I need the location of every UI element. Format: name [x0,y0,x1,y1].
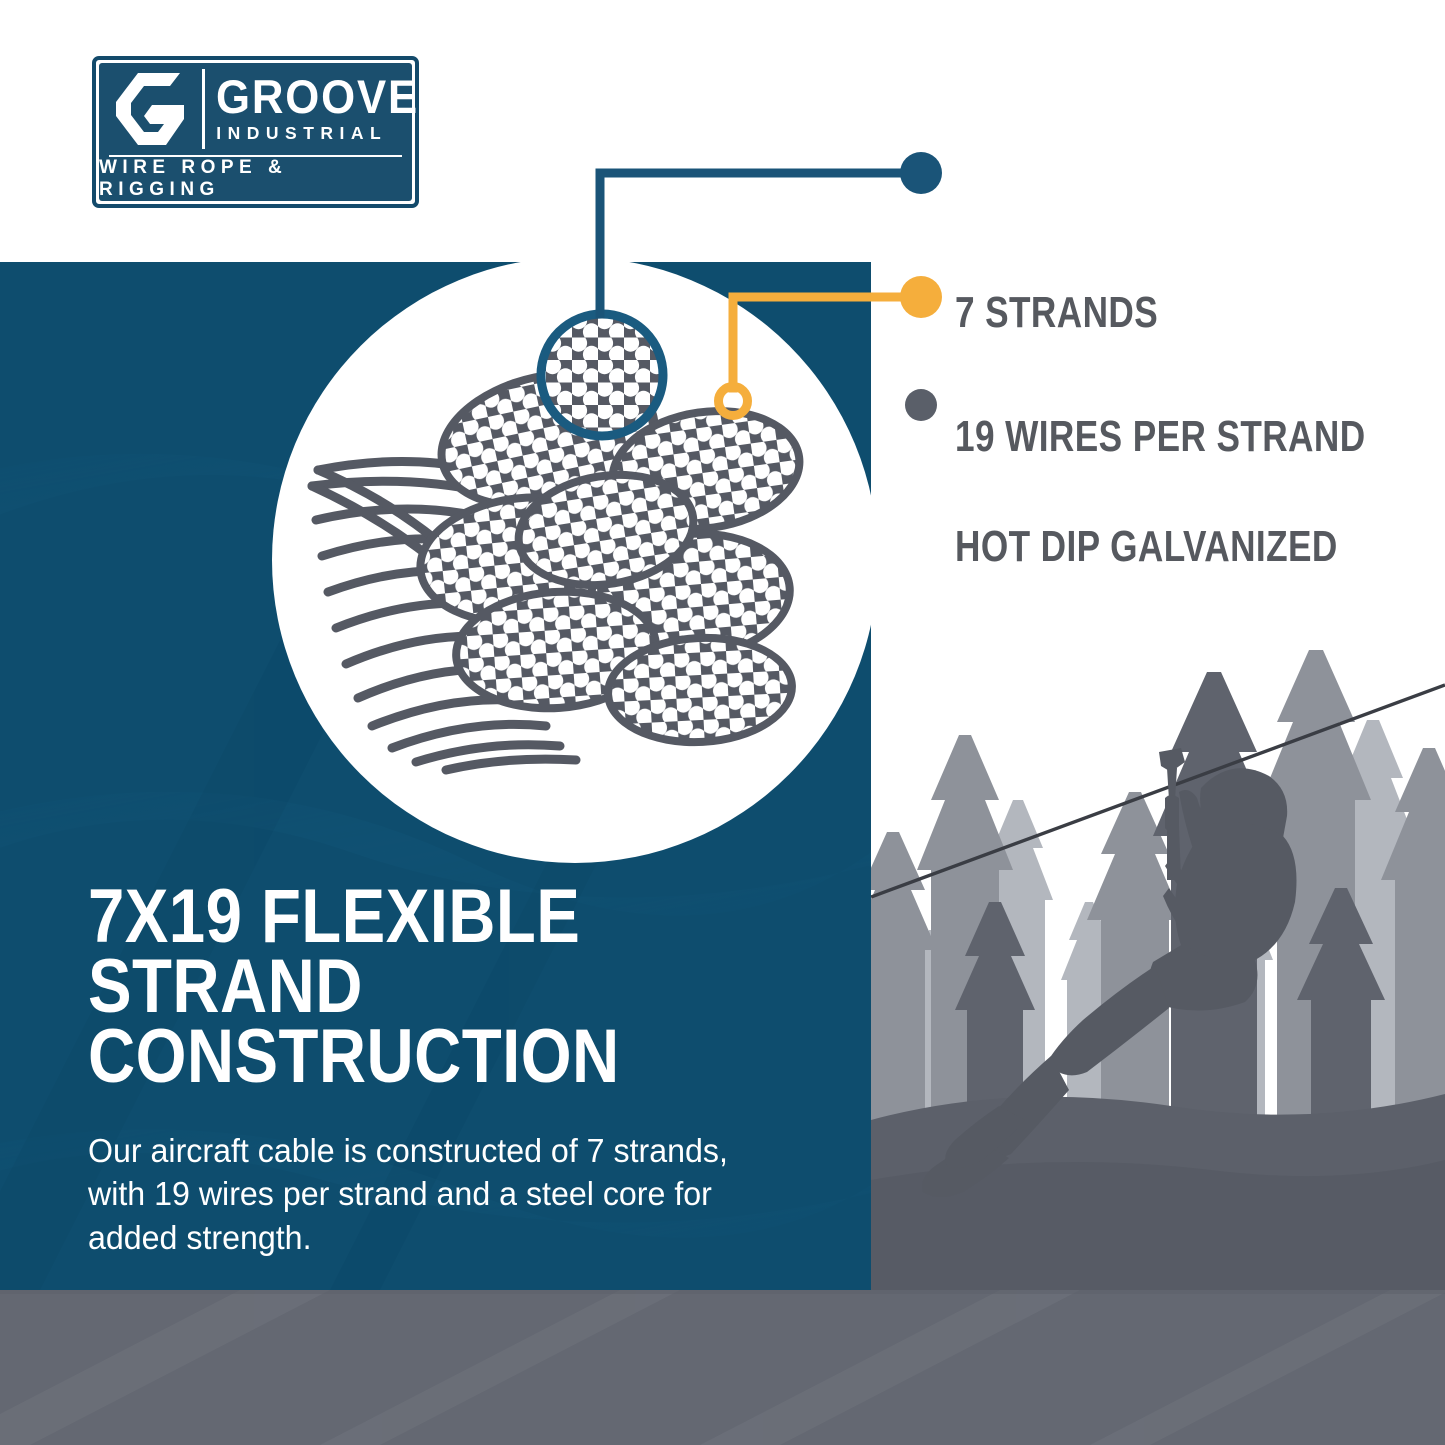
bottom-bar-texture [0,1290,1445,1445]
logo-top-row: GROOVE INDUSTRIAL [99,63,412,155]
headline-block: 7X19 FLEXIBLE STRAND CONSTRUCTION Our ai… [88,882,848,1294]
zipline-scene-illustration [871,0,1445,1290]
callout-item-wires[interactable]: 19 WIRES PER STRAND [955,412,1445,462]
brand-logo[interactable]: GROOVE INDUSTRIAL WIRE ROPE & RIGGING [92,56,419,208]
callout-item-strands[interactable]: 7 STRANDS [955,288,1209,338]
callout-label-galvanized: HOT DIP GALVANIZED [955,522,1338,572]
headline-line-1: 7X19 FLEXIBLE [88,882,742,952]
logo-vertical-divider [202,69,205,149]
body-paragraph: Our aircraft cable is constructed of 7 s… [88,1130,760,1261]
logo-tagline: WIRE ROPE & RIGGING [99,157,412,201]
bottom-bar [0,1290,1445,1445]
page-title: 7X19 FLEXIBLE STRAND CONSTRUCTION [88,882,742,1092]
infographic-canvas: GROOVE INDUSTRIAL WIRE ROPE & RIGGING [0,0,1445,1445]
groove-g-icon [114,73,188,145]
callout-label-strands: 7 STRANDS [955,288,1158,338]
headline-line-2: STRAND CONSTRUCTION [88,952,742,1092]
logo-brand-sub: INDUSTRIAL [216,123,434,144]
callout-item-galvanized[interactable]: HOT DIP GALVANIZED [955,522,1433,572]
logo-inner-plate: GROOVE INDUSTRIAL WIRE ROPE & RIGGING [99,63,412,201]
logo-tagline-row: WIRE ROPE & RIGGING [99,157,412,201]
callout-label-wires: 19 WIRES PER STRAND [955,412,1366,462]
zipline-photo [871,0,1445,1290]
logo-wordmark: GROOVE INDUSTRIAL [202,75,434,144]
logo-brand-name: GROOVE [216,75,419,118]
logo-g-mark [99,63,202,155]
